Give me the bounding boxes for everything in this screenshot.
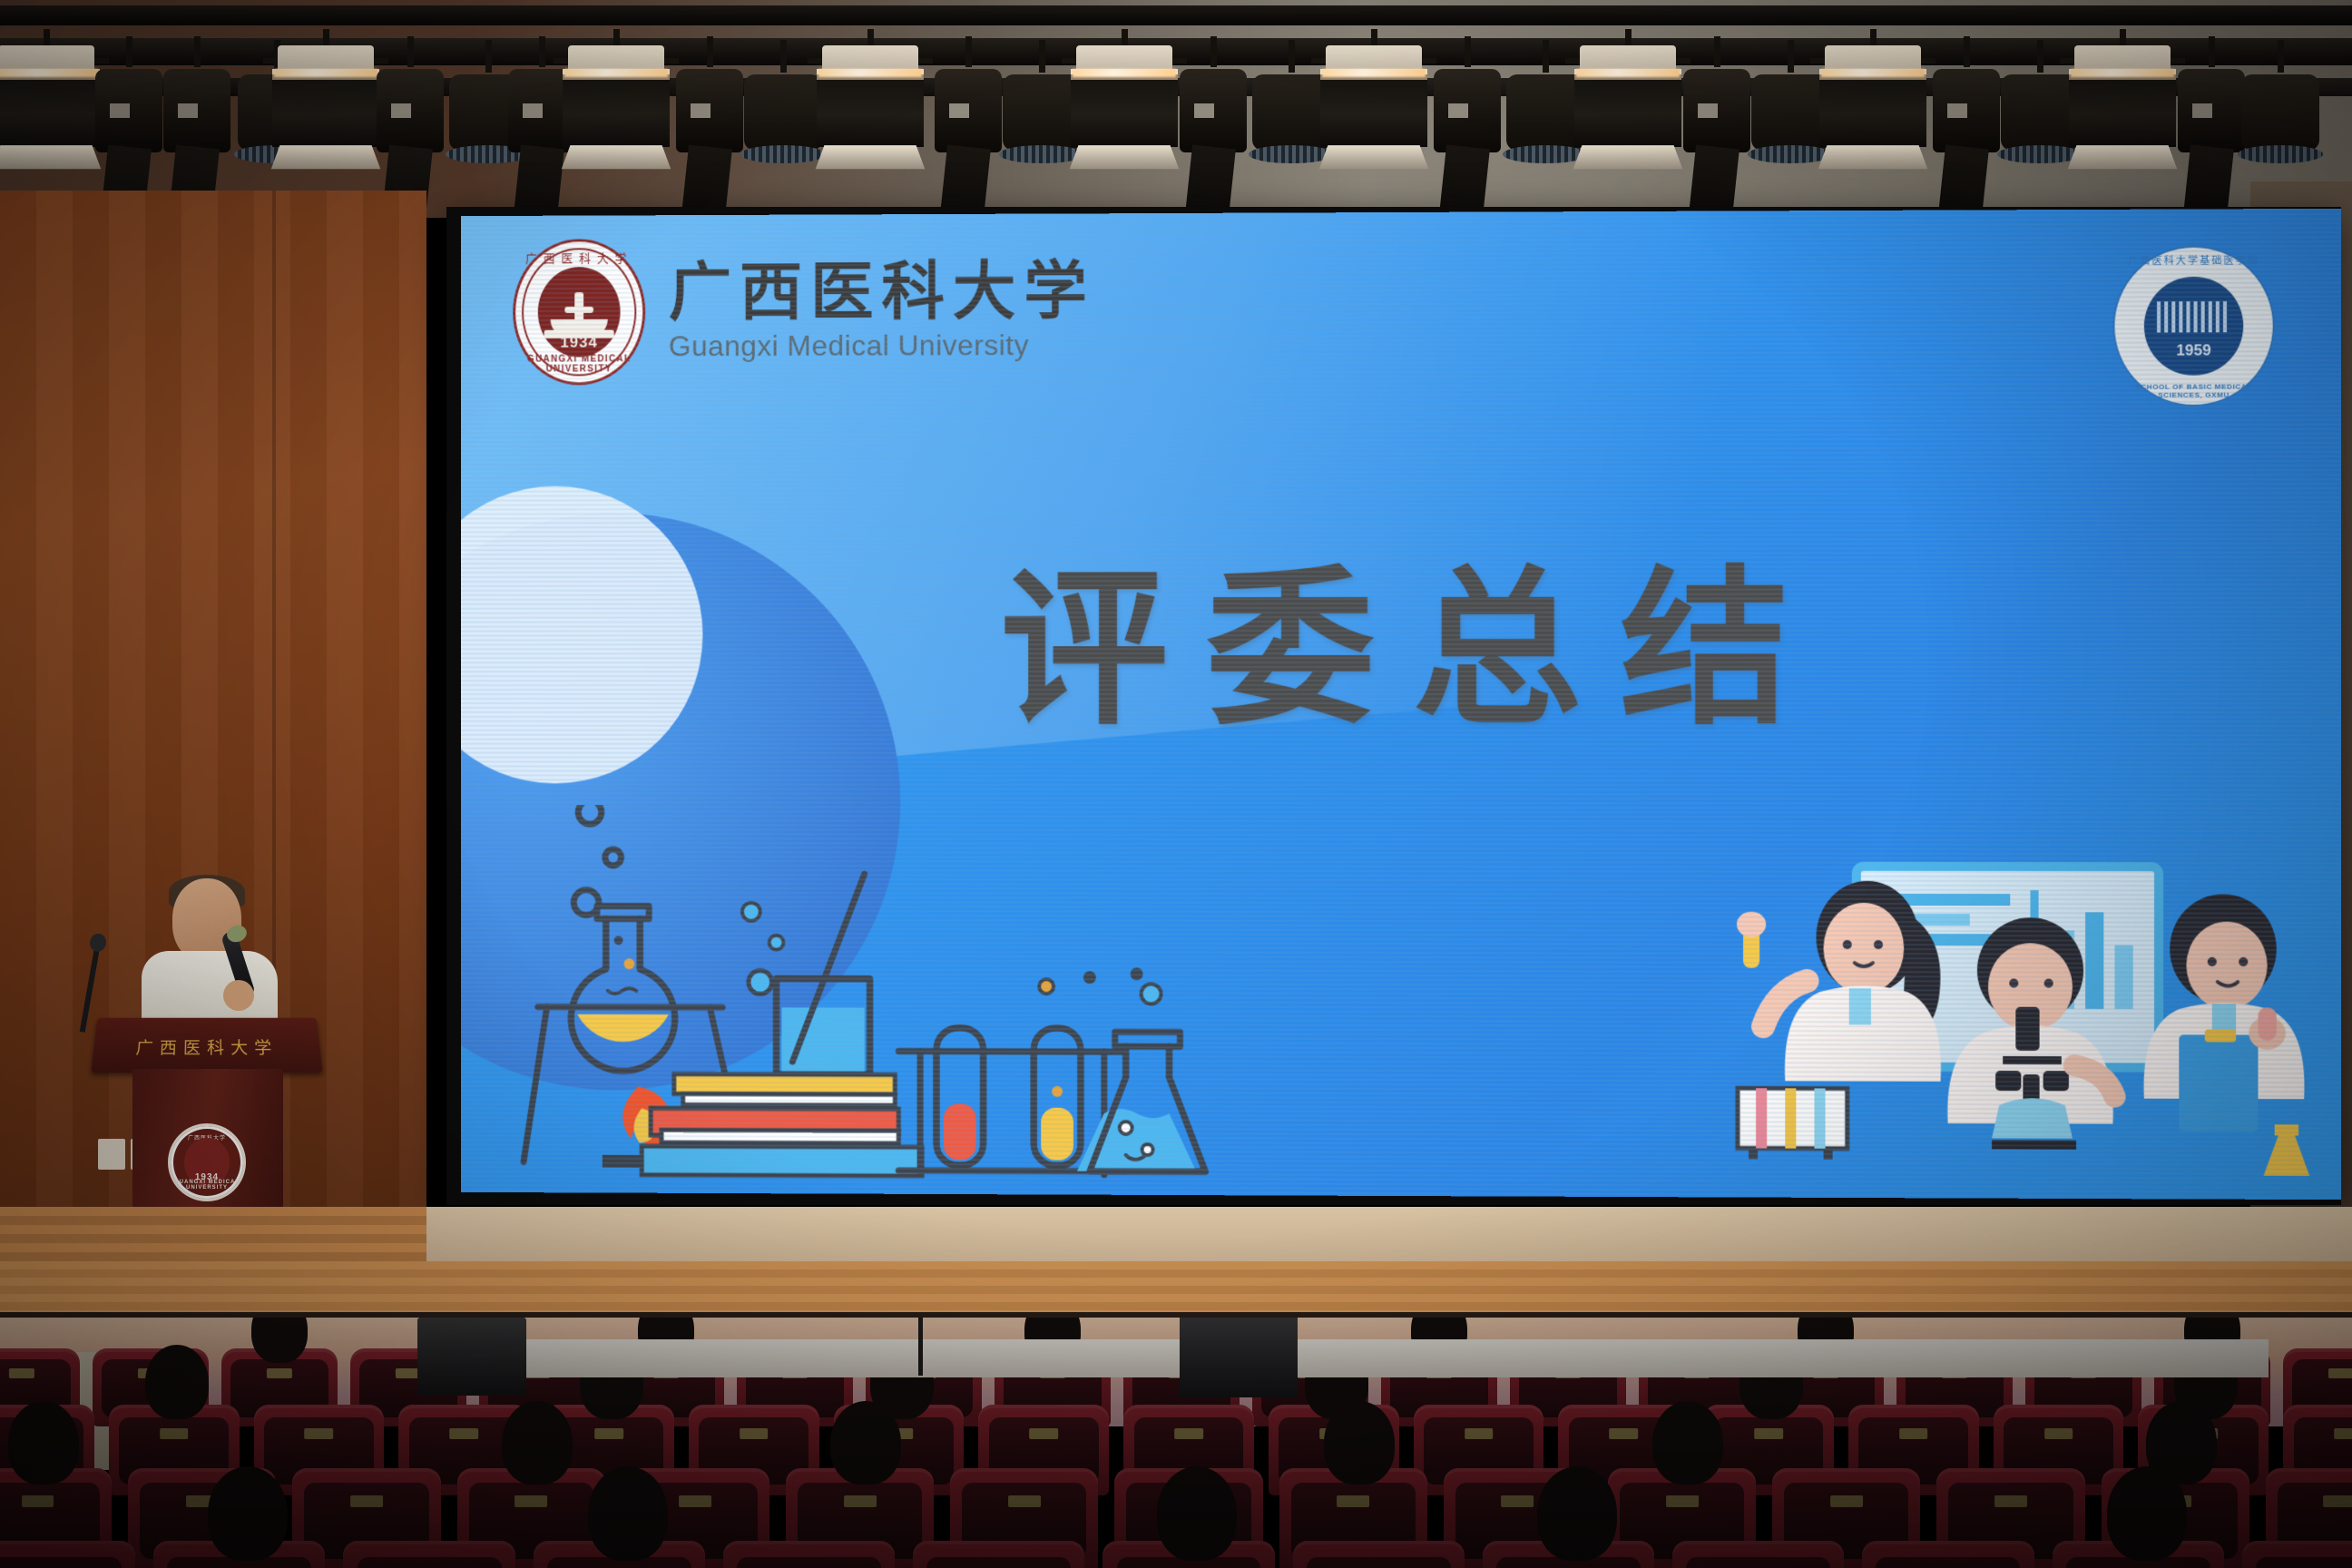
light-hanger bbox=[2278, 40, 2284, 73]
university-logo-lockup: 广西医科大学 1934 GUANGXI MEDICAL UNIVERSITY 广… bbox=[513, 237, 1095, 385]
seat-number-plate bbox=[740, 1428, 769, 1439]
light-body bbox=[1506, 74, 1584, 151]
light-glow bbox=[0, 69, 98, 77]
light-label bbox=[1194, 103, 1214, 118]
light-body bbox=[817, 69, 924, 147]
light-body bbox=[1320, 69, 1427, 147]
seat-number-plate bbox=[267, 1368, 292, 1377]
auditorium-seat[interactable] bbox=[1483, 1541, 1654, 1568]
truss-bar-upper bbox=[0, 5, 2352, 25]
light-hanger bbox=[539, 36, 545, 67]
light-body bbox=[1003, 74, 1081, 151]
lectern-top: 广西医科大学 bbox=[91, 1018, 322, 1073]
light-body bbox=[744, 74, 822, 151]
university-name-en: Guangxi Medical University bbox=[669, 328, 1095, 363]
light-body bbox=[1819, 69, 1926, 147]
light-hanger bbox=[407, 36, 414, 67]
light-glow bbox=[1073, 69, 1176, 77]
auditorium-scene: 广西医科大学 1934 GUANGXI MEDICAL UNIVERSITY 广… bbox=[0, 0, 2352, 1568]
slide-surface: 广西医科大学 1934 GUANGXI MEDICAL UNIVERSITY 广… bbox=[461, 209, 2341, 1200]
seat-number-plate bbox=[1337, 1495, 1369, 1508]
auditorium-seat[interactable] bbox=[1862, 1541, 2033, 1568]
seat-number-plate bbox=[844, 1495, 877, 1508]
audience-member bbox=[145, 1345, 209, 1419]
school-seal-arc-cn: 广西医科大学基础医学院 bbox=[2114, 252, 2272, 268]
light-hanger bbox=[1788, 40, 1794, 73]
light-glow bbox=[818, 69, 922, 77]
light-body bbox=[563, 69, 670, 147]
seat-number-plate bbox=[2044, 1428, 2073, 1439]
light-body bbox=[272, 69, 379, 147]
slide-title: 评委总结 bbox=[461, 510, 2341, 757]
seat-number-plate bbox=[2334, 1428, 2352, 1439]
barn-door bbox=[1070, 145, 1180, 169]
light-hanger bbox=[780, 40, 787, 73]
audience-member bbox=[502, 1401, 573, 1485]
light-label bbox=[523, 103, 543, 118]
barn-door bbox=[1818, 145, 1928, 169]
barn-door bbox=[816, 145, 926, 169]
led-presentation-screen[interactable]: 广西医科大学 1934 GUANGXI MEDICAL UNIVERSITY 广… bbox=[446, 207, 2341, 1205]
light-hanger bbox=[485, 40, 492, 73]
seat-number-plate bbox=[305, 1428, 334, 1439]
light-body bbox=[1751, 74, 1829, 151]
seat-number-plate bbox=[1174, 1428, 1203, 1439]
auditorium-seat[interactable] bbox=[343, 1541, 514, 1568]
seat-number-plate bbox=[1008, 1495, 1041, 1508]
light-label bbox=[1947, 103, 1967, 118]
audience-member bbox=[1537, 1466, 1617, 1561]
seat-number-plate bbox=[1830, 1495, 1863, 1508]
seat-back bbox=[358, 1557, 502, 1568]
building-icon bbox=[2157, 301, 2230, 332]
audience-member bbox=[1157, 1466, 1237, 1561]
scientists-illustration bbox=[1729, 853, 2315, 1182]
seal-disc: 1934 bbox=[538, 267, 621, 358]
lab-illustration-svg bbox=[507, 805, 1245, 1195]
auditorium-seat[interactable] bbox=[1672, 1541, 1844, 1568]
barn-door bbox=[0, 145, 101, 169]
light-hanger bbox=[1964, 36, 1970, 67]
seat-number-plate bbox=[1029, 1428, 1058, 1439]
light-label bbox=[1698, 103, 1718, 118]
audience-member bbox=[1652, 1401, 1723, 1485]
seat-number-plate bbox=[22, 1495, 54, 1508]
seat-number-plate bbox=[1666, 1495, 1699, 1508]
chemistry-lab-illustration bbox=[507, 805, 1245, 1195]
university-name-cn: 广西医科大学 bbox=[669, 259, 1095, 327]
light-hanger bbox=[2209, 36, 2215, 67]
university-name-block: 广西医科大学 Guangxi Medical University bbox=[669, 259, 1095, 364]
seat-number-plate bbox=[1754, 1428, 1783, 1439]
audience-member bbox=[830, 1401, 901, 1485]
school-seal-year: 1959 bbox=[2114, 341, 2272, 360]
light-body bbox=[0, 69, 100, 147]
pa-speaker bbox=[1180, 1318, 1298, 1397]
school-of-basic-medical-sciences-seal-icon: 广西医科大学基础医学院 1959 SCHOOL OF BASIC MEDICAL… bbox=[2112, 245, 2274, 407]
light-glow bbox=[2071, 69, 2174, 77]
light-hanger bbox=[126, 36, 132, 67]
seal-year: 1934 bbox=[538, 334, 621, 352]
seal-arc-cn: 广西医科大学 bbox=[515, 249, 642, 266]
light-lens bbox=[2238, 145, 2323, 163]
seat-number-plate bbox=[679, 1495, 711, 1508]
light-label bbox=[949, 103, 969, 118]
auditorium-seat[interactable] bbox=[1293, 1541, 1465, 1568]
seat-number-plate bbox=[160, 1428, 189, 1439]
judges-table bbox=[472, 1339, 2269, 1377]
seat-back bbox=[1307, 1557, 1451, 1568]
seat-number-plate bbox=[2328, 1368, 2352, 1377]
audience-member bbox=[588, 1466, 668, 1561]
seat-back bbox=[1876, 1557, 2020, 1568]
seat-back bbox=[0, 1557, 122, 1568]
presenter-hand bbox=[223, 980, 254, 1011]
seat-back bbox=[2256, 1557, 2352, 1568]
light-label bbox=[691, 103, 710, 118]
school-seal-arc-en: SCHOOL OF BASIC MEDICAL SCIENCES, GXMU bbox=[2114, 382, 2272, 399]
auditorium-seat[interactable] bbox=[913, 1541, 1084, 1568]
seat-number-plate bbox=[1465, 1428, 1494, 1439]
seat-number-plate bbox=[9, 1368, 34, 1377]
light-body bbox=[1071, 69, 1178, 147]
seal-arc-en: GUANGXI MEDICAL UNIVERSITY bbox=[515, 354, 642, 374]
light-label bbox=[2192, 103, 2212, 118]
lectern-university-seal-icon: 广西医科大学 1934 GUANGXI MEDICAL UNIVERSITY bbox=[168, 1123, 246, 1201]
pa-speaker bbox=[417, 1318, 526, 1396]
seat-number-plate bbox=[1609, 1428, 1638, 1439]
light-body bbox=[2069, 69, 2176, 147]
lectern-seal-arc-en: GUANGXI MEDICAL UNIVERSITY bbox=[171, 1180, 243, 1191]
light-glow bbox=[1322, 69, 1426, 77]
light-lens bbox=[740, 145, 826, 163]
light-body bbox=[2001, 74, 2079, 151]
seat-number-plate bbox=[514, 1495, 547, 1508]
light-hanger bbox=[1210, 36, 1217, 67]
light-glow bbox=[274, 69, 377, 77]
lectern-name-plate: 广西医科大学 bbox=[93, 1034, 321, 1058]
barn-door bbox=[1319, 145, 1429, 169]
seat-number-plate bbox=[2323, 1495, 2352, 1508]
audience-member bbox=[251, 1318, 308, 1363]
audience-member bbox=[2107, 1466, 2187, 1561]
auditorium-seat[interactable] bbox=[2053, 1541, 2224, 1568]
auditorium-seat[interactable] bbox=[2242, 1541, 2352, 1568]
seat-back bbox=[926, 1557, 1071, 1568]
barn-door bbox=[562, 145, 671, 169]
auditorium-seat[interactable] bbox=[0, 1541, 135, 1568]
light-hanger bbox=[1543, 40, 1549, 73]
seat-number-plate bbox=[1899, 1428, 1928, 1439]
barn-door bbox=[271, 145, 381, 169]
guangxi-medical-university-seal-icon: 广西医科大学 1934 GUANGXI MEDICAL UNIVERSITY bbox=[513, 239, 645, 385]
seat-number-plate bbox=[1501, 1495, 1534, 1508]
seat-number-plate bbox=[1994, 1495, 2027, 1508]
light-label bbox=[110, 103, 130, 118]
light-label bbox=[1448, 103, 1468, 118]
barn-door bbox=[1573, 145, 1683, 169]
light-glow bbox=[1821, 69, 1925, 77]
auditorium-seat[interactable] bbox=[723, 1541, 895, 1568]
auditorium-seat[interactable] bbox=[1102, 1541, 1274, 1568]
audience-member bbox=[208, 1466, 288, 1561]
light-label bbox=[178, 103, 198, 118]
seat-back bbox=[1686, 1557, 1830, 1568]
barn-door bbox=[2068, 145, 2178, 169]
seat-number-plate bbox=[594, 1428, 623, 1439]
seat-row bbox=[0, 1541, 2352, 1568]
light-glow bbox=[1576, 69, 1680, 77]
light-label bbox=[391, 103, 411, 118]
light-body bbox=[2241, 74, 2319, 151]
auditorium-seat[interactable] bbox=[153, 1541, 325, 1568]
light-hanger bbox=[194, 36, 201, 67]
school-logo: 广西医科大学基础医学院 1959 SCHOOL OF BASIC MEDICAL… bbox=[2112, 245, 2274, 407]
light-body bbox=[1252, 74, 1330, 151]
seat-back bbox=[737, 1557, 881, 1568]
light-hanger bbox=[707, 36, 713, 67]
light-hanger bbox=[965, 36, 972, 67]
audience-member bbox=[8, 1401, 79, 1485]
scientists-illustration-svg bbox=[1729, 853, 2315, 1182]
light-body bbox=[1574, 69, 1681, 147]
light-glow bbox=[564, 69, 668, 77]
seat-number-plate bbox=[350, 1495, 383, 1508]
light-hanger bbox=[1039, 40, 1045, 73]
audience-member bbox=[1324, 1401, 1395, 1485]
auditorium-seat[interactable] bbox=[534, 1541, 705, 1568]
light-hanger bbox=[1714, 36, 1720, 67]
light-hanger bbox=[2037, 40, 2043, 73]
auditorium-seating bbox=[0, 1318, 2352, 1568]
light-hanger bbox=[1289, 40, 1295, 73]
gooseneck-microphone bbox=[918, 1318, 923, 1376]
light-hanger bbox=[1465, 36, 1471, 67]
seat-number-plate bbox=[449, 1428, 478, 1439]
